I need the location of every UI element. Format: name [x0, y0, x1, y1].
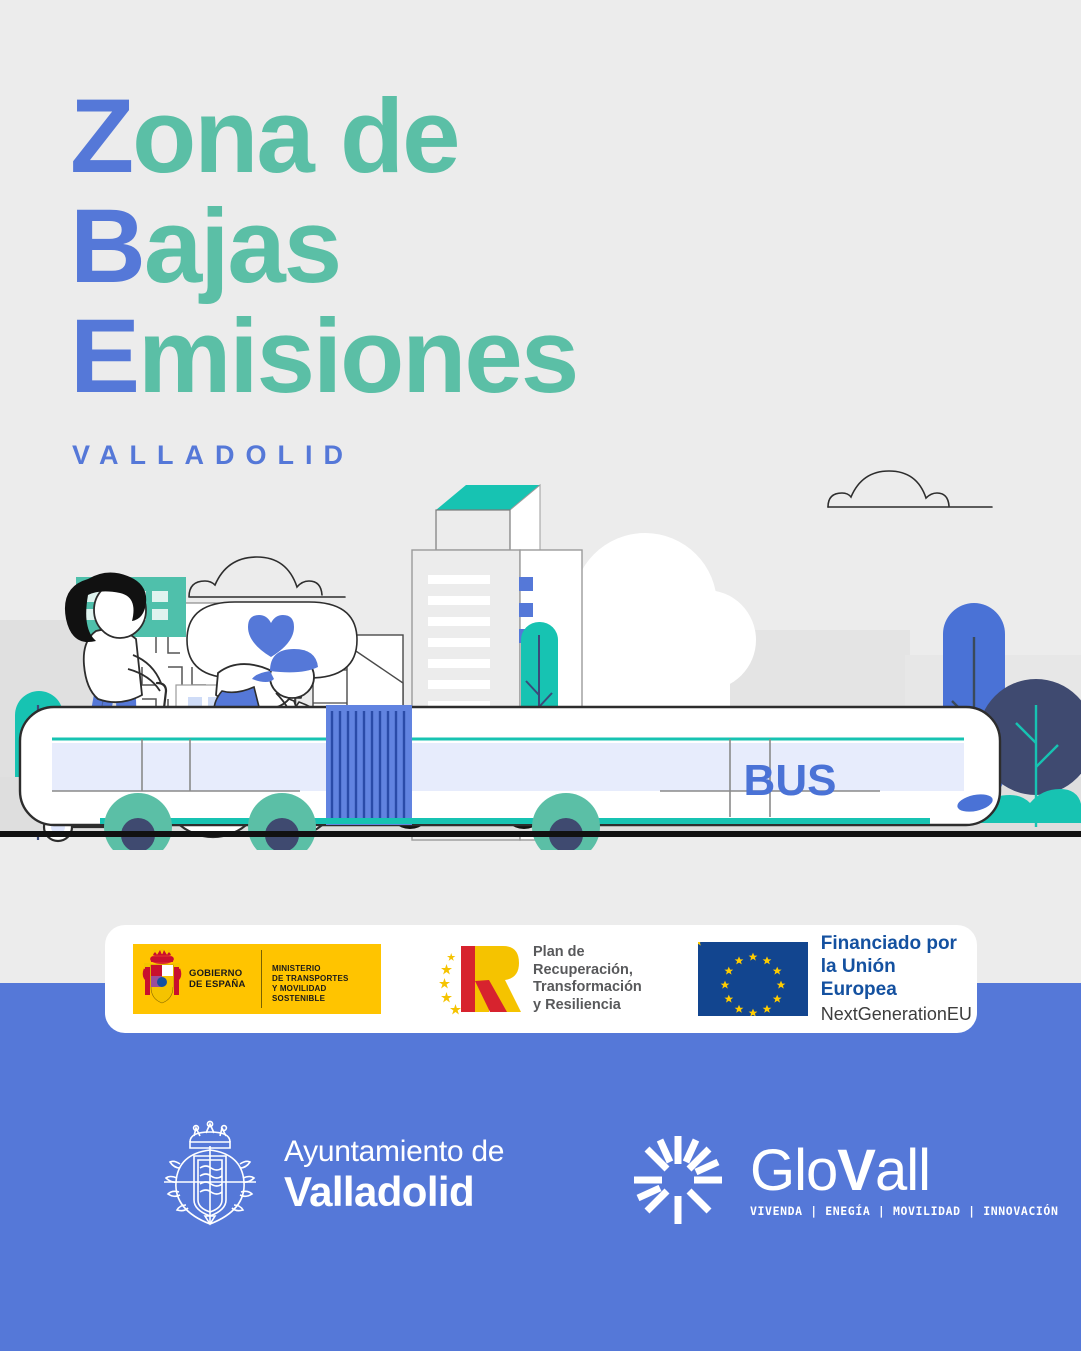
gobierno-line-2: DE ESPAÑA	[189, 979, 246, 991]
headline-rest-3: misiones	[138, 298, 577, 415]
badge-gobierno-espana: GOBIERNO DE ESPAÑA MINISTERIO DE TRANSPO…	[133, 944, 381, 1014]
spain-coat-of-arms-icon	[141, 949, 183, 1009]
prtr-logo-icon	[437, 940, 523, 1018]
ayuntamiento-line-1: Ayuntamiento de	[284, 1135, 504, 1169]
headline-rest-2: ajas	[144, 188, 340, 305]
eu-line-3: NextGenerationEU	[821, 1003, 972, 1026]
bus-label: BUS	[744, 756, 837, 805]
eu-line-1: Financiado por	[821, 932, 972, 955]
glovall-text: GloVall VIVENDA | ENEGÍA | MOVILIDAD | I…	[750, 1142, 1058, 1218]
headline-block: Zona de Bajas Emisiones	[70, 82, 970, 412]
ministerio-text: MINISTERIO DE TRANSPORTES Y MOVILIDAD SO…	[272, 964, 381, 1004]
eu-flag-icon	[698, 942, 808, 1016]
logo-ayuntamiento-valladolid: Ayuntamiento de Valladolid	[150, 1120, 504, 1228]
glovall-v: V	[837, 1138, 875, 1203]
valladolid-crest-icon	[150, 1120, 270, 1228]
ground-line	[0, 831, 1081, 837]
headline-cap-b: B	[70, 188, 144, 305]
headline-cap-z: Z	[70, 78, 132, 195]
city-illustration: BUS	[0, 455, 1081, 850]
glovall-glo: Glo	[750, 1138, 837, 1203]
badge-prtr: Plan de Recuperación, Transformación y R…	[437, 940, 642, 1018]
prtr-line-1: Plan de	[533, 944, 642, 962]
prtr-line-2: Recuperación,	[533, 962, 642, 980]
cloud-icon	[828, 471, 992, 507]
eu-line-2: la Unión Europea	[821, 955, 972, 1001]
eu-text: Financiado por la Unión Europea NextGene…	[821, 932, 972, 1026]
poster-root: Zona de Bajas Emisiones VALLADOLID	[0, 0, 1081, 1351]
headline-line-1: Zona de	[70, 82, 970, 192]
cloud-icon	[189, 557, 345, 597]
glovall-tagline: VIVENDA | ENEGÍA | MOVILIDAD | INNOVACIÓ…	[750, 1204, 1058, 1218]
ayuntamiento-line-2: Valladolid	[284, 1169, 504, 1214]
prtr-line-3: Transformación	[533, 979, 642, 997]
headline-rest-1: ona de	[132, 78, 458, 195]
ministerio-line-2: DE TRANSPORTES	[272, 974, 381, 984]
gobierno-divider	[261, 950, 262, 1008]
badge-european-union: Financiado por la Unión Europea NextGene…	[698, 932, 972, 1026]
prtr-text: Plan de Recuperación, Transformación y R…	[533, 944, 642, 1014]
headline-line-2: Bajas	[70, 192, 970, 302]
headline-line-3: Emisiones	[70, 302, 970, 412]
starburst-icon	[628, 1130, 728, 1230]
funding-badge-card: GOBIERNO DE ESPAÑA MINISTERIO DE TRANSPO…	[105, 925, 977, 1033]
gobierno-line-1: GOBIERNO	[189, 968, 246, 980]
prtr-line-4: y Resiliencia	[533, 997, 642, 1015]
logo-glovall: GloVall VIVENDA | ENEGÍA | MOVILIDAD | I…	[628, 1130, 1058, 1230]
ministerio-line-1: MINISTERIO	[272, 964, 381, 974]
headline-cap-e: E	[70, 298, 138, 415]
ministerio-line-3: Y MOVILIDAD SOSTENIBLE	[272, 984, 381, 1004]
ayuntamiento-text: Ayuntamiento de Valladolid	[284, 1135, 504, 1214]
gobierno-text: GOBIERNO DE ESPAÑA	[189, 968, 246, 991]
glovall-wordmark: GloVall	[750, 1142, 1058, 1200]
gobierno-flag-box: GOBIERNO DE ESPAÑA MINISTERIO DE TRANSPO…	[133, 944, 381, 1014]
glovall-all: all	[875, 1138, 930, 1203]
